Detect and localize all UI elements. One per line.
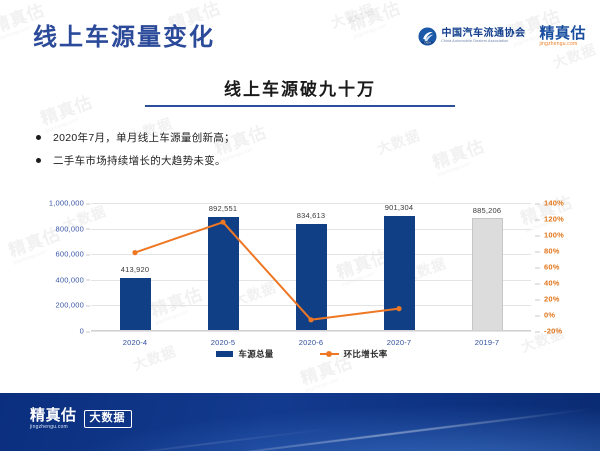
y-axis-left-tick-label: 400,000 — [55, 275, 84, 284]
y-axis-right-tick-label: 0% — [544, 311, 555, 320]
chart-container: 0200,000400,000600,000800,0001,000,000 -… — [28, 186, 576, 372]
chart-legend: 车源总量 环比增长率 — [28, 348, 576, 360]
y-axis-right-tick-label: -20% — [544, 327, 562, 336]
y-axis-left-tick-label: 600,000 — [55, 250, 84, 259]
chart-line-point[interactable] — [308, 317, 313, 322]
cada-name-cn: 中国汽车流通协会 — [441, 29, 525, 39]
subtitle-divider — [145, 105, 455, 107]
jingzhengu-name-cn: 精真估 — [539, 26, 586, 41]
jingzhengu-logo: 精真估 jingzhengu.com — [539, 26, 586, 47]
legend-swatch-bar-icon — [216, 351, 233, 357]
jingzhengu-name-en: jingzhengu.com — [539, 42, 586, 47]
chart-line-point[interactable] — [132, 250, 137, 255]
y-axis-left-tick-label: 800,000 — [55, 224, 84, 233]
footer-logo: 精真估 jingzhengu.com — [30, 408, 77, 430]
slide-header: 线上车源量变化 CADA 中国汽车流通协会 China Automobile D… — [0, 0, 600, 66]
y-axis-right-tick-label: 60% — [544, 263, 560, 272]
footer-streak — [241, 407, 598, 451]
footer-tag-badge: 大数据 — [84, 410, 132, 428]
legend-label: 车源总量 — [238, 348, 273, 360]
chart-gridline — [91, 331, 531, 332]
bullet-text: 2020年7月，单月线上车源量创新高； — [53, 130, 235, 145]
subtitle: 线上车源破九十万 — [0, 75, 600, 100]
cada-logo: CADA 中国汽车流通协会 China Automobile Dealers A… — [418, 27, 525, 46]
chart-plot-area: 0200,000400,000600,000800,0001,000,000 -… — [91, 203, 531, 331]
chart-line-path — [135, 222, 399, 320]
footer-logo-en: jingzhengu.com — [30, 425, 77, 430]
bullet-text: 二手车市场持续增长的大趋势未变。 — [53, 153, 226, 168]
y-axis-left-tick-label: 200,000 — [55, 301, 84, 310]
chart-line-point[interactable] — [396, 306, 401, 311]
y-axis-right-tick-label: 80% — [544, 247, 560, 256]
y-axis-right-tick-label: 40% — [544, 279, 560, 288]
subtitle-block: 线上车源破九十万 — [0, 75, 600, 107]
list-item: 二手车市场持续增长的大趋势未变。 — [36, 149, 235, 172]
svg-text:CADA: CADA — [425, 42, 432, 45]
bullet-dot-icon — [36, 135, 41, 140]
chart-line-series — [91, 203, 531, 331]
y-axis-left-tick-label: 1,000,000 — [49, 199, 84, 208]
page-title: 线上车源量变化 — [33, 17, 215, 52]
footer-logo-cn: 精真估 — [30, 408, 77, 423]
y-axis-right-tick-label: 20% — [544, 295, 560, 304]
chart-line-point[interactable] — [220, 220, 225, 225]
bullet-list: 2020年7月，单月线上车源量创新高； 二手车市场持续增长的大趋势未变。 — [36, 126, 235, 172]
watermark-text: 大数据 — [374, 125, 423, 159]
footer-streak — [41, 427, 339, 451]
y-axis-right-tick-label: 140% — [544, 199, 564, 208]
watermark-text: 精真估jingzhengu.com — [428, 132, 489, 179]
bullet-dot-icon — [36, 158, 41, 163]
y-axis-left-tick-label: 0 — [80, 327, 84, 336]
legend-item-bar[interactable]: 车源总量 — [216, 348, 273, 360]
x-axis-tick-label: 2020-5 — [211, 338, 236, 347]
cada-logo-text: 中国汽车流通协会 China Automobile Dealers Associ… — [441, 29, 525, 44]
cada-emblem-icon: CADA — [418, 27, 437, 46]
cada-name-en: China Automobile Dealers Association — [441, 40, 527, 44]
list-item: 2020年7月，单月线上车源量创新高； — [36, 126, 235, 149]
legend-swatch-line-icon — [320, 350, 339, 358]
slide-footer: 精真估 jingzhengu.com 大数据 — [0, 393, 600, 451]
x-axis-tick-label: 2019-7 — [475, 338, 500, 347]
legend-item-line[interactable]: 环比增长率 — [320, 348, 388, 360]
brand-row: CADA 中国汽车流通协会 China Automobile Dealers A… — [418, 26, 586, 47]
y-axis-right-tick-label: 100% — [544, 231, 564, 240]
chart-axis-baseline — [91, 330, 531, 331]
x-axis-tick-label: 2020-7 — [387, 338, 412, 347]
y-axis-right-tick-label: 120% — [544, 215, 564, 224]
x-axis-tick-label: 2020-4 — [123, 338, 148, 347]
footer-brand: 精真估 jingzhengu.com 大数据 — [30, 408, 132, 430]
legend-label: 环比增长率 — [344, 348, 388, 360]
x-axis-tick-label: 2020-6 — [299, 338, 324, 347]
